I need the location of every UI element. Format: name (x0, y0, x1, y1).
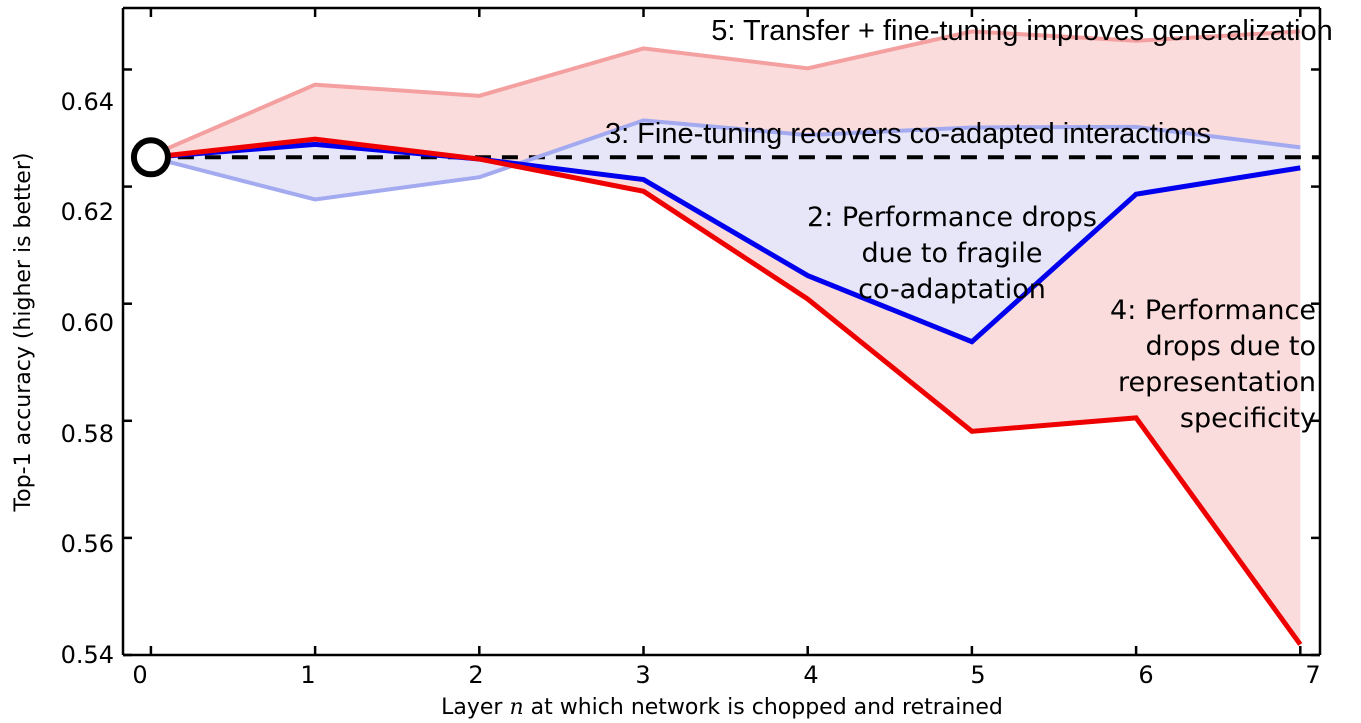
annotation-3: 3: Fine-tuning recovers co-adapted inter… (605, 118, 1211, 150)
annotation-2-line-2: due to fragile (861, 238, 1042, 269)
y-tick-label-064: 0.64 (61, 88, 114, 116)
annotation-4-line-4: specificity (1180, 403, 1316, 434)
x-axis-title-variable: n (509, 695, 523, 720)
x-tick-label-3: 3 (635, 661, 650, 689)
x-tick-label-6: 6 (1138, 661, 1153, 689)
x-tick-label-0: 0 (132, 661, 147, 689)
x-tick-label-5: 5 (970, 661, 985, 689)
annotation-4-line-3: representation (1118, 367, 1316, 398)
y-tick-label-058: 0.58 (61, 420, 114, 448)
base-network-marker (134, 140, 168, 174)
x-axis-title: Layer n at which network is chopped and … (441, 695, 1003, 720)
figure-container: 0 1 2 3 4 5 6 7 0.54 0.56 0.58 0.60 0.62… (0, 0, 1361, 723)
x-tick-label-1: 1 (300, 661, 315, 689)
annotation-2-line-1: 2: Performance drops (807, 202, 1097, 233)
y-tick-label-062: 0.62 (61, 198, 114, 226)
y-tick-labels: 0.54 0.56 0.58 0.60 0.62 0.64 (61, 88, 114, 669)
x-tick-label-2: 2 (468, 661, 483, 689)
chart-svg: 0 1 2 3 4 5 6 7 0.54 0.56 0.58 0.60 0.62… (0, 0, 1361, 723)
x-tick-label-4: 4 (803, 661, 818, 689)
y-tick-label-056: 0.56 (61, 530, 114, 558)
x-tick-label-7: 7 (1305, 661, 1320, 689)
x-tick-labels: 0 1 2 3 4 5 6 7 (132, 661, 1320, 689)
x-axis-title-post: at which network is chopped and retraine… (524, 695, 1003, 720)
y-axis-title: Top-1 accuracy (higher is better) (11, 153, 36, 513)
x-axis-title-pre: Layer (441, 695, 509, 720)
y-tick-label-060: 0.60 (61, 309, 114, 337)
annotation-5: 5: Transfer + fine-tuning improves gener… (711, 15, 1332, 47)
annotation-4-line-1: 4: Performance (1110, 295, 1316, 326)
annotation-2-line-3: co-adaptation (858, 274, 1046, 305)
y-tick-label-054: 0.54 (61, 641, 114, 669)
annotation-4-line-2: drops due to (1145, 331, 1316, 362)
